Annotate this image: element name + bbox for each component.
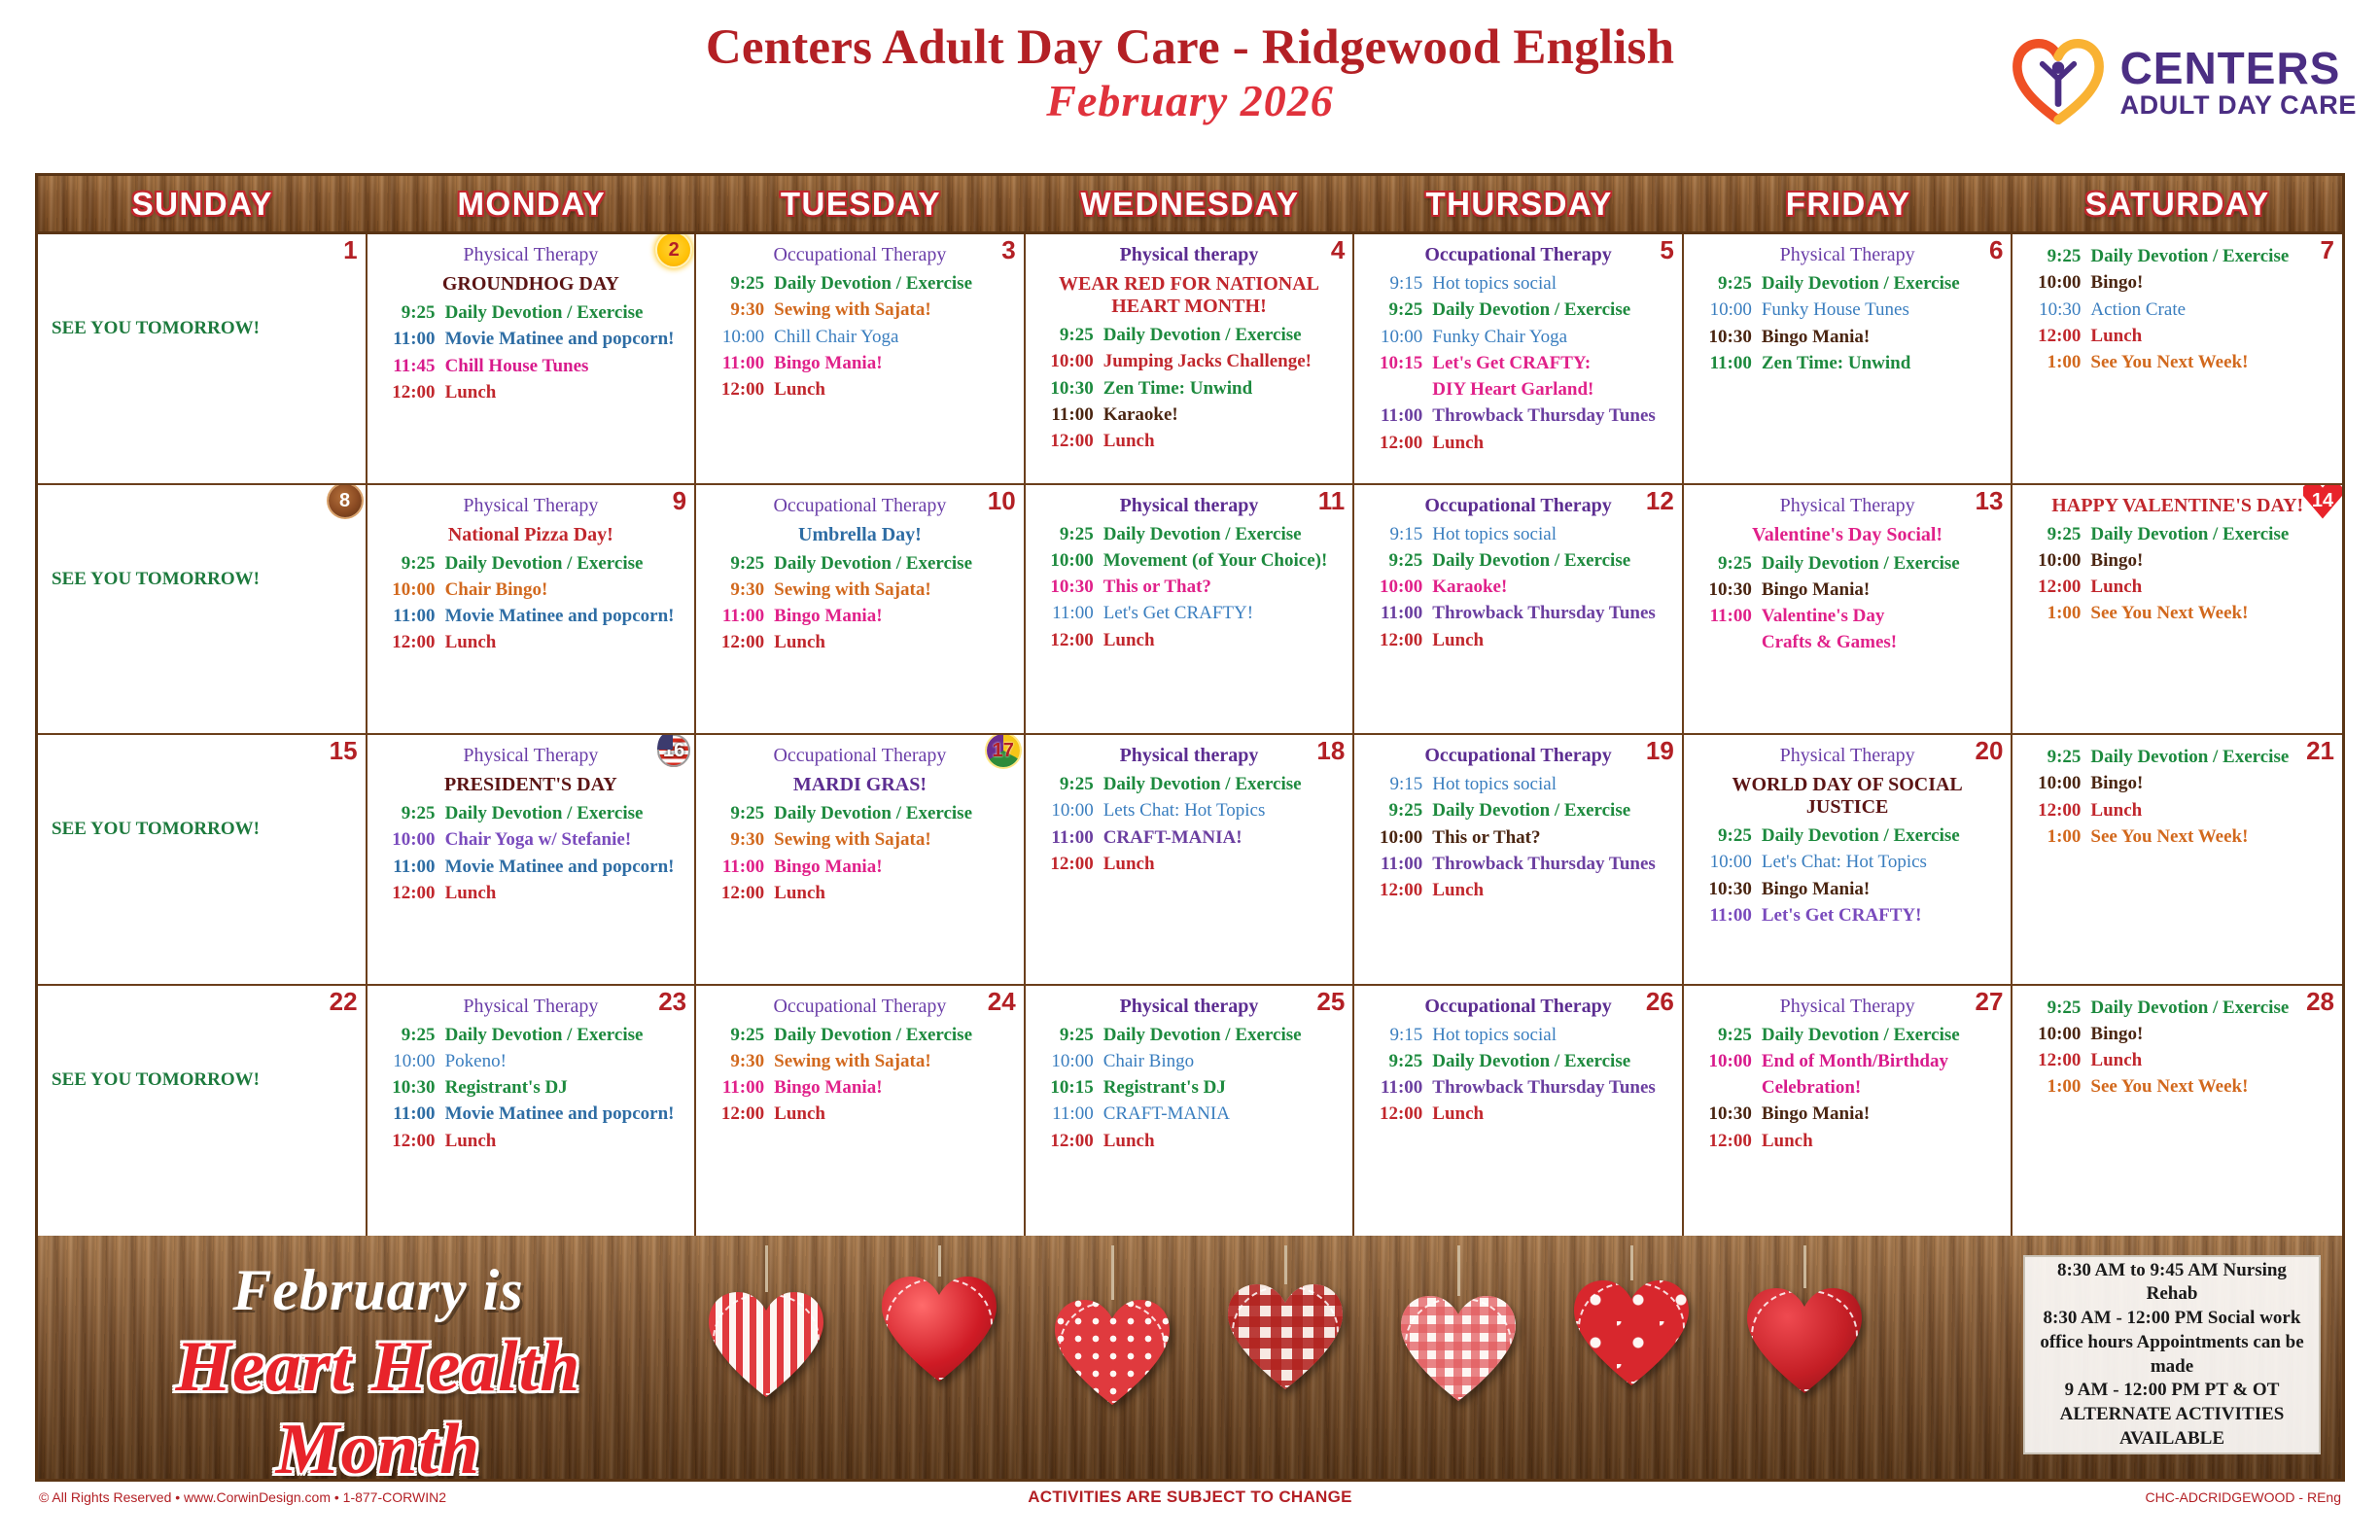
- activity-item[interactable]: 10:00Bingo!: [2020, 773, 2334, 793]
- activity-item[interactable]: 10:00Movement (of Your Choice)!: [1033, 550, 1346, 571]
- activity-item[interactable]: 10:00Chair Bingo: [1033, 1051, 1346, 1071]
- activity-name: Crafts & Games!: [1762, 632, 2004, 652]
- activity-item[interactable]: 12:00Lunch: [2020, 1050, 2334, 1070]
- activity-time: 11:00: [704, 606, 774, 626]
- activity-name: Daily Devotion / Exercise: [774, 1025, 1016, 1045]
- calendar-day-cell-6[interactable]: 6Physical Therapy9:25Daily Devotion / Ex…: [1684, 234, 2013, 485]
- activity-time: 12:00: [375, 382, 445, 402]
- activity-item[interactable]: 9:25Daily Devotion / Exercise: [1692, 825, 2004, 846]
- activity-item[interactable]: 12:00Lunch: [1362, 1103, 1674, 1124]
- activity-item[interactable]: 12:00Lunch: [704, 632, 1016, 652]
- activity-name: Daily Devotion / Exercise: [774, 803, 1016, 823]
- activity-time: 9:30: [704, 299, 774, 320]
- activity-time: 1:00: [2020, 1076, 2090, 1097]
- activity-time: 10:00: [375, 1051, 445, 1071]
- activity-item[interactable]: 12:00Lunch: [375, 632, 687, 652]
- therapy-label: Occupational Therapy: [1362, 495, 1674, 517]
- activity-item[interactable]: 1:00See You Next Week!: [2020, 826, 2334, 847]
- activity-item[interactable]: 9:25Daily Devotion / Exercise: [1033, 524, 1346, 544]
- activity-item[interactable]: 9:25Daily Devotion / Exercise: [375, 1025, 687, 1045]
- activity-item[interactable]: 12:00Lunch: [375, 883, 687, 903]
- centers-logo: CENTERS ADULT DAY CARE: [2012, 35, 2357, 128]
- activity-time: 12:00: [1033, 431, 1103, 451]
- activity-name: End of Month/Birthday: [1762, 1051, 2004, 1071]
- activity-item[interactable]: 10:30Action Crate: [2020, 299, 2334, 320]
- activity-item[interactable]: 10:15Registrant's DJ: [1033, 1077, 1346, 1098]
- activity-time: 12:00: [704, 883, 774, 903]
- activity-item[interactable]: 9:15Hot topics social: [1362, 1025, 1674, 1045]
- activity-name: Daily Devotion / Exercise: [1103, 524, 1346, 544]
- activity-item[interactable]: 10:00Pokeno!: [375, 1051, 687, 1071]
- activity-time: 11:00: [704, 857, 774, 877]
- activity-time: 9:25: [704, 273, 774, 294]
- activity-name: Lunch: [1103, 854, 1346, 874]
- activity-name: Registrant's DJ: [1103, 1077, 1346, 1098]
- activity-item[interactable]: 12:00Lunch: [375, 1131, 687, 1151]
- activity-name: Throwback Thursday Tunes: [1432, 854, 1674, 874]
- activity-time: 10:00: [1033, 550, 1103, 571]
- activity-item[interactable]: 9:30Sewing with Sajata!: [704, 579, 1016, 600]
- day-number: 21: [2306, 738, 2334, 763]
- activity-list: 9:25Daily Devotion / Exercise10:00Bingo!…: [2020, 747, 2334, 847]
- hours-info-line: AVAILABLE: [2040, 1427, 2303, 1452]
- activity-name: See You Next Week!: [2090, 603, 2334, 623]
- calendar-day-cell-17[interactable]: 17Occupational TherapyMARDI GRAS!9:25Dai…: [696, 735, 1026, 986]
- activity-time: 12:00: [2020, 577, 2090, 597]
- calendar-day-cell-24[interactable]: 24Occupational Therapy9:25Daily Devotion…: [696, 986, 1026, 1237]
- activity-item[interactable]: 11:00Bingo Mania!: [704, 353, 1016, 373]
- activity-time: 12:00: [375, 883, 445, 903]
- day-number: 20: [1976, 738, 2004, 763]
- activity-item[interactable]: 11:00Bingo Mania!: [704, 606, 1016, 626]
- activity-item[interactable]: 9:25Daily Devotion / Exercise: [1362, 550, 1674, 571]
- day-number: 19: [1646, 738, 1674, 763]
- calendar-day-cell-7[interactable]: 79:25Daily Devotion / Exercise10:00Bingo…: [2012, 234, 2342, 485]
- weekday-header-sunday: SUNDAY: [38, 176, 367, 231]
- heart-string: [938, 1245, 941, 1277]
- activity-list: 9:25Daily Devotion / Exercise9:30Sewing …: [704, 803, 1016, 903]
- activity-time: 10:30: [1033, 577, 1103, 597]
- hanging-heart-7-icon: [1747, 1286, 1862, 1395]
- activity-item[interactable]: 10:30Zen Time: Unwind: [1033, 378, 1346, 399]
- activity-time: 12:00: [2020, 1050, 2090, 1070]
- activity-list: 9:25Daily Devotion / Exercise10:00Bingo!…: [2020, 997, 2334, 1098]
- activity-list: 9:25Daily Devotion / Exercise9:30Sewing …: [704, 553, 1016, 653]
- activity-item[interactable]: 10:00Funky Chair Yoga: [1362, 327, 1674, 347]
- activity-item[interactable]: 9:25Daily Devotion / Exercise: [704, 1025, 1016, 1045]
- activity-time: 10:00: [1692, 299, 1762, 320]
- activity-name: This or That?: [1432, 827, 1674, 848]
- activity-time: 10:00: [1692, 1051, 1762, 1071]
- activity-item[interactable]: 11:00Let's Get CRAFTY!: [1033, 603, 1346, 623]
- day-number: 7: [2321, 237, 2334, 262]
- activity-item[interactable]: 9:30Sewing with Sajata!: [704, 829, 1016, 850]
- activity-item[interactable]: 12:00Lunch: [704, 379, 1016, 400]
- calendar-day-cell-15[interactable]: 15SEE YOU TOMORROW!: [38, 735, 367, 986]
- activity-item[interactable]: 10:00Funky House Tunes: [1692, 299, 2004, 320]
- therapy-label: Occupational Therapy: [704, 745, 1016, 767]
- activity-item[interactable]: 9:30Sewing with Sajata!: [704, 1051, 1016, 1071]
- activity-item[interactable]: 12:00Lunch: [2020, 577, 2334, 597]
- heart-person-logo-icon: [2012, 38, 2105, 125]
- activity-time: 11:00: [1362, 603, 1432, 623]
- activity-time: 9:25: [704, 553, 774, 574]
- activity-item[interactable]: 9:25Daily Devotion / Exercise: [2020, 747, 2334, 767]
- activity-time: 10:15: [1362, 353, 1432, 373]
- weekday-header-thursday: THURSDAY: [1354, 176, 1684, 231]
- activity-item[interactable]: 9:30Sewing with Sajata!: [704, 299, 1016, 320]
- hours-info-text: 8:30 AM to 9:45 AM NursingRehab8:30 AM -…: [2040, 1259, 2303, 1452]
- activity-item[interactable]: 12:00Lunch: [1692, 1131, 2004, 1151]
- activity-time: 12:00: [1362, 630, 1432, 650]
- activity-list: 9:25Daily Devotion / Exercise10:00Chair …: [375, 803, 687, 903]
- therapy-label: Occupational Therapy: [704, 996, 1016, 1018]
- calendar-day-cell-2[interactable]: 2Physical TherapyGROUNDHOG DAY9:25Daily …: [367, 234, 697, 485]
- activity-item[interactable]: 11:00Karaoke!: [1033, 404, 1346, 425]
- activity-item[interactable]: 11:00Movie Matinee and popcorn!: [375, 1103, 687, 1124]
- activity-name: Chair Yoga w/ Stefanie!: [445, 829, 687, 850]
- calendar-day-cell-23[interactable]: 23Physical Therapy9:25Daily Devotion / E…: [367, 986, 697, 1237]
- activity-item[interactable]: 11:00Valentine's Day: [1692, 606, 2004, 626]
- activity-item[interactable]: 11:00Throwback Thursday Tunes: [1362, 603, 1674, 623]
- activity-time: 9:25: [1692, 273, 1762, 294]
- activity-item[interactable]: 10:00Bingo!: [2020, 272, 2334, 293]
- activity-name: Movie Matinee and popcorn!: [445, 606, 687, 626]
- activity-item[interactable]: 11:45Chill House Tunes: [375, 356, 687, 376]
- activity-item[interactable]: 12:00Lunch: [2020, 326, 2334, 346]
- activity-name: Bingo Mania!: [1762, 327, 2004, 347]
- activity-name: Lunch: [774, 1103, 1016, 1124]
- activity-time: 10:30: [1692, 327, 1762, 347]
- activity-name: Sewing with Sajata!: [774, 299, 1016, 320]
- activity-name: Bingo Mania!: [1762, 879, 2004, 899]
- activity-name: Daily Devotion / Exercise: [445, 553, 687, 574]
- activity-name: Daily Devotion / Exercise: [1762, 273, 2004, 294]
- therapy-label: Physical Therapy: [1692, 745, 2004, 767]
- day-number: 16: [663, 741, 684, 760]
- calendar-day-cell-14[interactable]: 14HAPPY VALENTINE'S DAY!9:25Daily Devoti…: [2012, 485, 2342, 736]
- activity-item[interactable]: 12:00Lunch: [1362, 630, 1674, 650]
- activity-item[interactable]: 9:25Daily Devotion / Exercise: [1692, 553, 2004, 574]
- activity-item[interactable]: 10:00End of Month/Birthday: [1692, 1051, 2004, 1071]
- activity-item[interactable]: 10:30Bingo Mania!: [1692, 327, 2004, 347]
- hours-info-line: made: [2040, 1355, 2303, 1380]
- activity-item[interactable]: 10:30Bingo Mania!: [1692, 879, 2004, 899]
- activity-item[interactable]: 10:00This or That?: [1362, 827, 1674, 848]
- activity-item[interactable]: 10:00Lets Chat: Hot Topics: [1033, 800, 1346, 821]
- activity-name: Lunch: [774, 379, 1016, 400]
- activity-list: 9:25Daily Devotion / Exercise9:30Sewing …: [704, 273, 1016, 400]
- activity-name: Throwback Thursday Tunes: [1432, 1077, 1674, 1098]
- activity-item[interactable]: 10:00Bingo!: [2020, 1024, 2334, 1044]
- calendar-day-cell-1[interactable]: 1SEE YOU TOMORROW!: [38, 234, 367, 485]
- calendar-day-cell-11[interactable]: 11Physical therapy9:25Daily Devotion / E…: [1026, 485, 1355, 736]
- activity-item[interactable]: 10:15Let's Get CRAFTY:: [1362, 353, 1674, 373]
- banner-line-2: Heart Health Month: [77, 1326, 680, 1479]
- special-event-label: WEAR RED FOR NATIONAL HEART MONTH!: [1033, 273, 1346, 318]
- activity-name: Chill Chair Yoga: [774, 327, 1016, 347]
- therapy-label: Occupational Therapy: [1362, 745, 1674, 767]
- activity-item[interactable]: 9:25Daily Devotion / Exercise: [1362, 299, 1674, 320]
- day-number: 3: [1001, 237, 1015, 262]
- activity-name: This or That?: [1103, 577, 1346, 597]
- activity-name: Lunch: [445, 1131, 687, 1151]
- activity-item[interactable]: 12:00Lunch: [1033, 1131, 1346, 1151]
- activity-item[interactable]: 9:25Daily Devotion / Exercise: [1692, 1025, 2004, 1045]
- hanging-heart-2-icon: [882, 1275, 997, 1383]
- footer-doc-code: CHC-ADCRIDGEWOOD - REng: [2146, 1489, 2341, 1505]
- calendar-day-cell-13[interactable]: 13Physical TherapyValentine's Day Social…: [1684, 485, 2013, 736]
- activity-time: 9:15: [1362, 774, 1432, 794]
- activity-item[interactable]: 10:30This or That?: [1033, 577, 1346, 597]
- activity-item[interactable]: 12:00Lunch: [1033, 630, 1346, 650]
- activity-item[interactable]: 11:00Throwback Thursday Tunes: [1362, 1077, 1674, 1098]
- activity-item[interactable]: 9:25Daily Devotion / Exercise: [375, 553, 687, 574]
- activity-name: Chill House Tunes: [445, 356, 687, 376]
- activity-time: 12:00: [1362, 880, 1432, 900]
- calendar-day-cell-18[interactable]: 18Physical therapy9:25Daily Devotion / E…: [1026, 735, 1355, 986]
- hours-info-line: 9 AM - 12:00 PM PT & OT: [2040, 1379, 2303, 1403]
- activity-item[interactable]: 9:25Daily Devotion / Exercise: [2020, 246, 2334, 266]
- activity-item[interactable]: 11:00CRAFT-MANIA!: [1033, 827, 1346, 848]
- activity-item[interactable]: 1:00See You Next Week!: [2020, 352, 2334, 372]
- activity-item[interactable]: 10:00Chill Chair Yoga: [704, 327, 1016, 347]
- calendar-day-cell-22[interactable]: 22SEE YOU TOMORROW!: [38, 986, 367, 1237]
- activity-item[interactable]: 10:00Karaoke!: [1362, 577, 1674, 597]
- activity-time: 12:00: [2020, 326, 2090, 346]
- activity-time: 11:00: [375, 606, 445, 626]
- activity-item[interactable]: 9:25Daily Devotion / Exercise: [1033, 325, 1346, 345]
- activity-item[interactable]: 9:25Daily Devotion / Exercise: [704, 803, 1016, 823]
- activity-time: 10:00: [2020, 773, 2090, 793]
- activity-time: 10:30: [1692, 879, 1762, 899]
- calendar-grid: 1SEE YOU TOMORROW!2Physical TherapyGROUN…: [38, 234, 2342, 1236]
- activity-item[interactable]: 12:00Lunch: [704, 883, 1016, 903]
- activity-time: 11:00: [1362, 1077, 1432, 1098]
- activity-name: Hot topics social: [1432, 524, 1674, 544]
- activity-name: Chair Bingo!: [445, 579, 687, 600]
- activity-time: 9:25: [1362, 1051, 1432, 1071]
- activity-name: Registrant's DJ: [445, 1077, 687, 1098]
- activity-item[interactable]: 11:00Movie Matinee and popcorn!: [375, 857, 687, 877]
- activity-list: 9:25Daily Devotion / Exercise10:00Jumpin…: [1033, 325, 1346, 451]
- activity-item[interactable]: 11:00Bingo Mania!: [704, 857, 1016, 877]
- activity-name: Chair Bingo: [1103, 1051, 1346, 1071]
- activity-list: 9:15Hot topics social9:25Daily Devotion …: [1362, 1025, 1674, 1125]
- activity-time: 1:00: [2020, 352, 2090, 372]
- calendar-day-cell-8[interactable]: 8SEE YOU TOMORROW!: [38, 485, 367, 736]
- special-event-label: WORLD DAY OF SOCIAL JUSTICE: [1692, 774, 2004, 819]
- calendar-day-cell-3[interactable]: 3Occupational Therapy9:25Daily Devotion …: [696, 234, 1026, 485]
- activity-list: 9:25Daily Devotion / Exercise11:00Movie …: [375, 302, 687, 402]
- calendar-day-cell-16[interactable]: 16Physical TherapyPRESIDENT'S DAY9:25Dai…: [367, 735, 697, 986]
- activity-name: Bingo!: [2090, 773, 2334, 793]
- activity-time: 12:00: [2020, 800, 2090, 821]
- activity-time: 10:30: [1692, 579, 1762, 600]
- activity-time: 9:25: [2020, 524, 2090, 544]
- activity-name: Let's Get CRAFTY!: [1103, 603, 1346, 623]
- activity-name: Daily Devotion / Exercise: [445, 302, 687, 323]
- activity-list: 9:25Daily Devotion / Exercise10:00Bingo!…: [2020, 524, 2334, 624]
- activity-item[interactable]: DIY Heart Garland!: [1362, 379, 1674, 400]
- calendar-day-cell-21[interactable]: 219:25Daily Devotion / Exercise10:00Bing…: [2012, 735, 2342, 986]
- activity-time: 11:00: [704, 1077, 774, 1098]
- weekday-header-tuesday: TUESDAY: [696, 176, 1026, 231]
- activity-time: 1:00: [2020, 826, 2090, 847]
- activity-time: 11:00: [1692, 606, 1762, 626]
- calendar-day-cell-27[interactable]: 27Physical Therapy9:25Daily Devotion / E…: [1684, 986, 2013, 1237]
- activity-item[interactable]: 10:00Bingo!: [2020, 550, 2334, 571]
- activity-time: 12:00: [1033, 630, 1103, 650]
- special-event-label: Valentine's Day Social!: [1692, 524, 2004, 546]
- hours-info-box: 8:30 AM to 9:45 AM NursingRehab8:30 AM -…: [2023, 1255, 2321, 1454]
- activity-item[interactable]: 10:00Let's Chat: Hot Topics: [1692, 852, 2004, 872]
- day-note: SEE YOU TOMORROW!: [46, 318, 358, 339]
- activity-item[interactable]: 12:00Lunch: [2020, 800, 2334, 821]
- calendar-day-cell-5[interactable]: 5Occupational Therapy9:15Hot topics soci…: [1354, 234, 1684, 485]
- activity-time: 9:25: [2020, 246, 2090, 266]
- calendar-day-cell-12[interactable]: 12Occupational Therapy9:15Hot topics soc…: [1354, 485, 1684, 736]
- activity-item[interactable]: 9:25Daily Devotion / Exercise: [1362, 800, 1674, 821]
- activity-item[interactable]: 9:25Daily Devotion / Exercise: [375, 302, 687, 323]
- activity-name: Sewing with Sajata!: [774, 1051, 1016, 1071]
- activity-list: 9:25Daily Devotion / Exercise10:00Chair …: [375, 553, 687, 653]
- heart-string: [1111, 1245, 1114, 1300]
- activity-name: Action Crate: [2090, 299, 2334, 320]
- activity-item[interactable]: 9:25Daily Devotion / Exercise: [2020, 997, 2334, 1018]
- therapy-label: Physical Therapy: [375, 244, 687, 266]
- activity-name: Karaoke!: [1432, 577, 1674, 597]
- activity-item[interactable]: 10:00Chair Yoga w/ Stefanie!: [375, 829, 687, 850]
- activity-time: 11:00: [1033, 404, 1103, 425]
- activity-name: Zen Time: Unwind: [1762, 353, 2004, 373]
- logo-line-1: CENTERS: [2120, 46, 2357, 90]
- activity-item[interactable]: 1:00See You Next Week!: [2020, 1076, 2334, 1097]
- activity-name: Daily Devotion / Exercise: [1432, 800, 1674, 821]
- activity-item[interactable]: 12:00Lunch: [1033, 431, 1346, 451]
- activity-name: DIY Heart Garland!: [1432, 379, 1674, 400]
- activity-item[interactable]: 10:30Bingo Mania!: [1692, 579, 2004, 600]
- calendar-day-cell-19[interactable]: 19Occupational Therapy9:15Hot topics soc…: [1354, 735, 1684, 986]
- activity-item[interactable]: 9:25Daily Devotion / Exercise: [704, 553, 1016, 574]
- activity-item[interactable]: 9:15Hot topics social: [1362, 774, 1674, 794]
- activity-name: Daily Devotion / Exercise: [1762, 1025, 2004, 1045]
- activity-item[interactable]: 9:25Daily Devotion / Exercise: [1692, 273, 2004, 294]
- activity-time: 1:00: [2020, 603, 2090, 623]
- activity-time: 10:00: [1033, 1051, 1103, 1071]
- activity-item[interactable]: 10:30Bingo Mania!: [1692, 1103, 2004, 1124]
- hanging-heart-1-icon: [709, 1290, 823, 1399]
- activity-item[interactable]: 1:00See You Next Week!: [2020, 603, 2334, 623]
- activity-name: Movie Matinee and popcorn!: [445, 1103, 687, 1124]
- activity-item[interactable]: 10:00Chair Bingo!: [375, 579, 687, 600]
- heart-stitching: [1401, 1294, 1516, 1403]
- activity-item[interactable]: 9:25Daily Devotion / Exercise: [704, 273, 1016, 294]
- activity-item[interactable]: 12:00Lunch: [1362, 433, 1674, 453]
- activity-item[interactable]: 11:00Let's Get CRAFTY!: [1692, 905, 2004, 926]
- hours-info-line: 8:30 AM - 12:00 PM Social work: [2040, 1307, 2303, 1331]
- activity-item[interactable]: 11:00Bingo Mania!: [704, 1077, 1016, 1098]
- calendar-day-cell-9[interactable]: 9Physical TherapyNational Pizza Day!9:25…: [367, 485, 697, 736]
- activity-item[interactable]: 9:15Hot topics social: [1362, 524, 1674, 544]
- activity-item[interactable]: 12:00Lunch: [375, 382, 687, 402]
- activity-item[interactable]: 12:00Lunch: [1033, 854, 1346, 874]
- activity-name: Valentine's Day: [1762, 606, 2004, 626]
- day-number: 17: [993, 741, 1014, 760]
- activity-item[interactable]: 11:00Movie Matinee and popcorn!: [375, 329, 687, 349]
- activity-item[interactable]: Celebration!: [1692, 1077, 2004, 1098]
- calendar-day-cell-20[interactable]: 20Physical TherapyWORLD DAY OF SOCIAL JU…: [1684, 735, 2013, 986]
- activity-time: 12:00: [1033, 1131, 1103, 1151]
- day-number: 13: [1976, 488, 2004, 513]
- day-number: 9: [673, 488, 686, 513]
- activity-item[interactable]: 12:00Lunch: [704, 1103, 1016, 1124]
- activity-item[interactable]: 11:00Throwback Thursday Tunes: [1362, 854, 1674, 874]
- day-number: 25: [1316, 989, 1345, 1014]
- calendar-day-cell-28[interactable]: 289:25Daily Devotion / Exercise10:00Bing…: [2012, 986, 2342, 1237]
- activity-name: Daily Devotion / Exercise: [1103, 1025, 1346, 1045]
- activity-time: 12:00: [1362, 1103, 1432, 1124]
- activity-time: 11:00: [375, 1103, 445, 1124]
- calendar-day-cell-4[interactable]: 4Physical therapyWEAR RED FOR NATIONAL H…: [1026, 234, 1355, 485]
- activity-time: 9:25: [1362, 800, 1432, 821]
- activity-time: 10:00: [704, 327, 774, 347]
- day-number: 18: [1316, 738, 1345, 763]
- activity-name: Lunch: [774, 632, 1016, 652]
- activity-item[interactable]: 11:00CRAFT-MANIA: [1033, 1103, 1346, 1124]
- activity-item[interactable]: 11:00Movie Matinee and popcorn!: [375, 606, 687, 626]
- activity-name: Bingo Mania!: [1762, 1103, 2004, 1124]
- activity-name: Movie Matinee and popcorn!: [445, 329, 687, 349]
- calendar-day-cell-26[interactable]: 26Occupational Therapy9:15Hot topics soc…: [1354, 986, 1684, 1237]
- activity-time: 9:25: [1362, 550, 1432, 571]
- activity-item[interactable]: 9:25Daily Devotion / Exercise: [1033, 1025, 1346, 1045]
- activity-name: See You Next Week!: [2090, 1076, 2334, 1097]
- therapy-label: HAPPY VALENTINE'S DAY!: [2020, 495, 2334, 517]
- heart-stitching: [1574, 1278, 1689, 1387]
- heart-health-month-graphic: February is Heart Health Month: [77, 1257, 680, 1479]
- therapy-label: Physical therapy: [1033, 244, 1346, 266]
- activity-item[interactable]: 10:00Jumping Jacks Challenge!: [1033, 351, 1346, 371]
- activity-time: 10:00: [1692, 852, 1762, 872]
- activity-item[interactable]: 12:00Lunch: [1362, 880, 1674, 900]
- day-number: 27: [1976, 989, 2004, 1014]
- day-number: 6: [1989, 237, 2003, 262]
- activity-name: Daily Devotion / Exercise: [445, 803, 687, 823]
- weekday-header-wednesday: WEDNESDAY: [1026, 176, 1355, 231]
- activity-name: Lets Chat: Hot Topics: [1103, 800, 1346, 821]
- activity-item[interactable]: 9:25Daily Devotion / Exercise: [1362, 1051, 1674, 1071]
- activity-item[interactable]: 9:25Daily Devotion / Exercise: [1033, 774, 1346, 794]
- activity-name: CRAFT-MANIA: [1103, 1103, 1346, 1124]
- activity-list: 9:25Daily Devotion / Exercise10:00Let's …: [1692, 825, 2004, 926]
- activity-item[interactable]: 11:00Throwback Thursday Tunes: [1362, 405, 1674, 426]
- activity-item[interactable]: 10:30Registrant's DJ: [375, 1077, 687, 1098]
- calendar-day-cell-25[interactable]: 25Physical therapy9:25Daily Devotion / E…: [1026, 986, 1355, 1237]
- day-number: 1: [343, 237, 357, 262]
- activity-item[interactable]: 9:25Daily Devotion / Exercise: [2020, 524, 2334, 544]
- activity-item[interactable]: Crafts & Games!: [1692, 632, 2004, 652]
- activity-list: 9:15Hot topics social9:25Daily Devotion …: [1362, 774, 1674, 900]
- activity-item[interactable]: 9:25Daily Devotion / Exercise: [375, 803, 687, 823]
- activity-item[interactable]: 9:15Hot topics social: [1362, 273, 1674, 294]
- activity-item[interactable]: 11:00Zen Time: Unwind: [1692, 353, 2004, 373]
- activity-time: 10:00: [1033, 800, 1103, 821]
- day-number: 28: [2306, 989, 2334, 1014]
- calendar-day-cell-10[interactable]: 10Occupational TherapyUmbrella Day!9:25D…: [696, 485, 1026, 736]
- activity-time: 9:25: [375, 1025, 445, 1045]
- activity-list: 9:25Daily Devotion / Exercise10:00Pokeno…: [375, 1025, 687, 1151]
